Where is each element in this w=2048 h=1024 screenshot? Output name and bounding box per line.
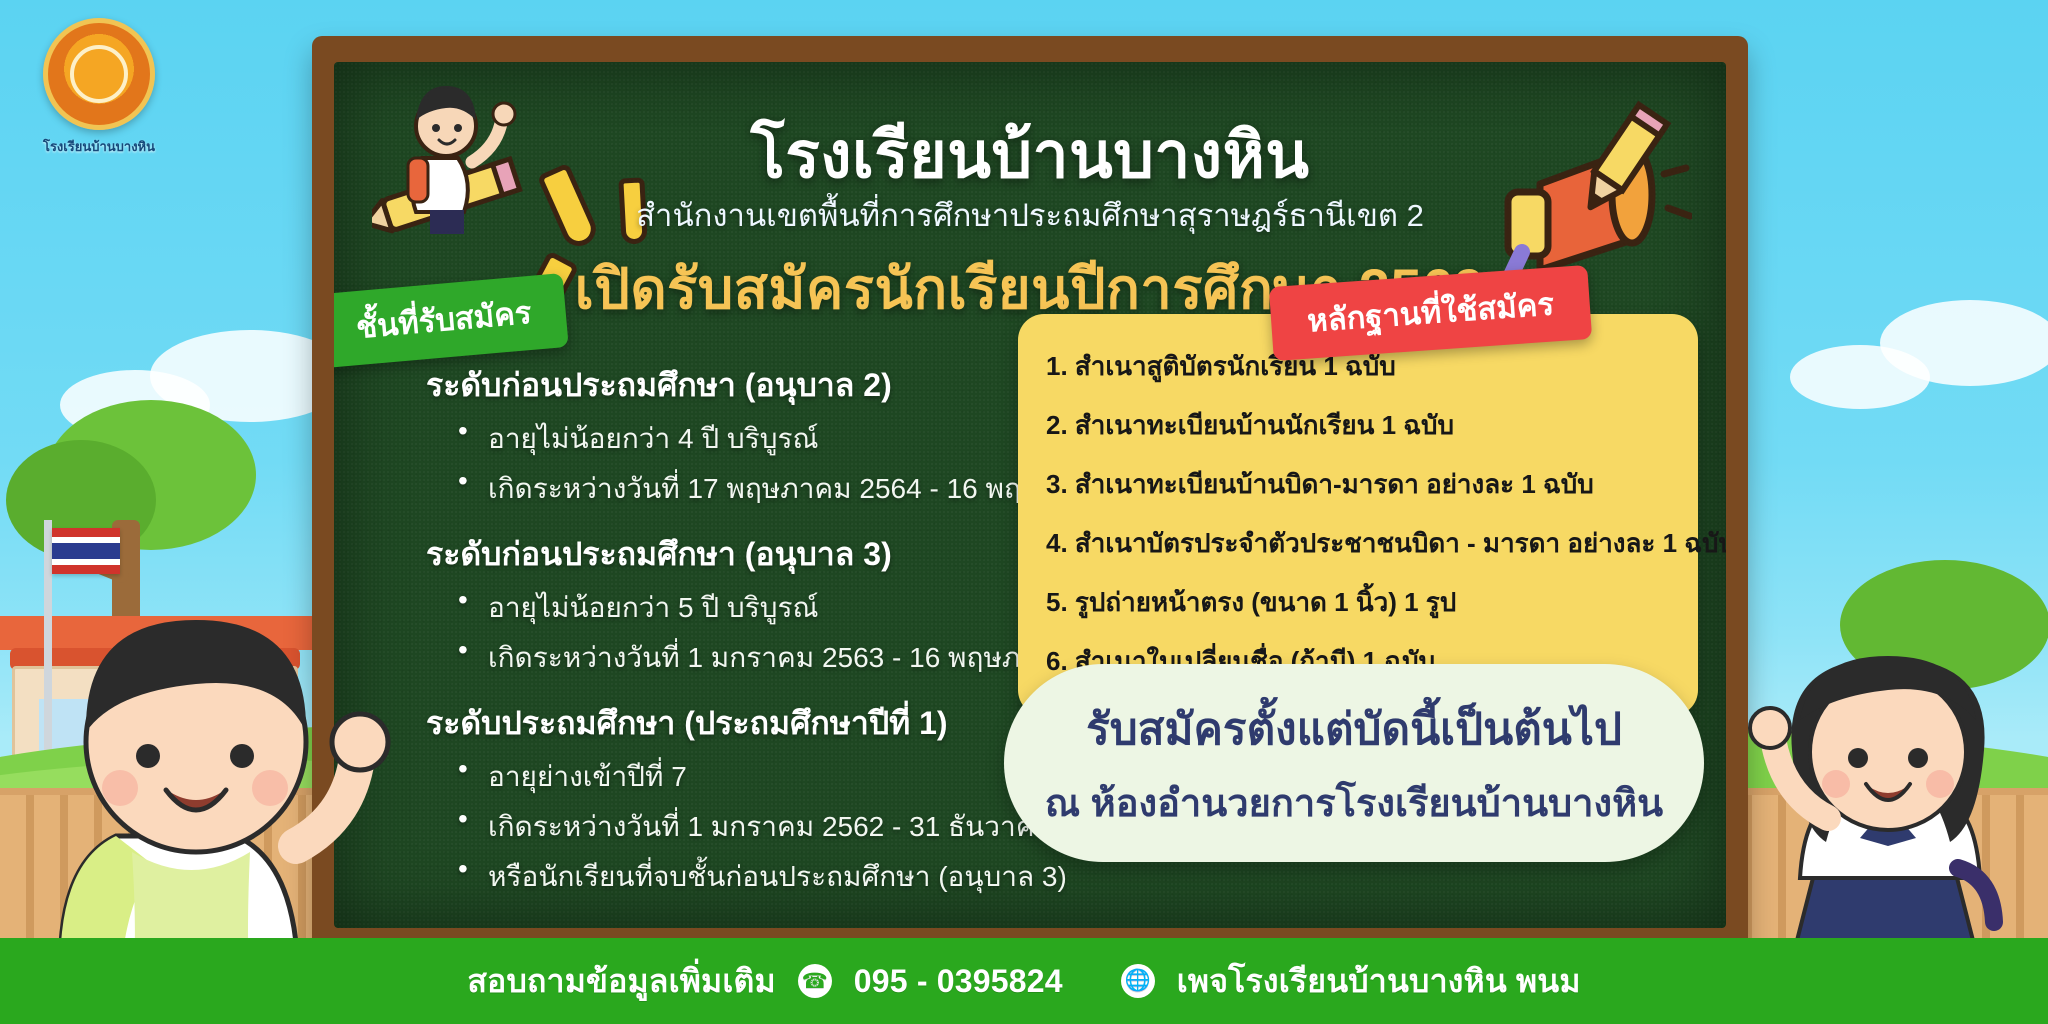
student-on-pencil-illustration (372, 62, 532, 252)
document-item: 4. สำเนาบัตรประจำตัวประชาชนบิดา - มารดา … (1046, 523, 1670, 564)
document-item: 5. รูปถ่ายหน้าตรง (ขนาด 1 นิ้ว) 1 รูป (1046, 582, 1670, 623)
footer-content: สอบถามข้อมูลเพิ่มเติม ☎ 095 - 0395824 🌐 … (0, 938, 2048, 1024)
contact-label: สอบถามข้อมูลเพิ่มเติม (467, 956, 775, 1007)
globe-icon: 🌐 (1121, 964, 1155, 998)
school-logo-caption: โรงเรียนบ้านบางหิน (24, 136, 174, 157)
phone-icon: ☎ (798, 964, 832, 998)
cloud-decoration (1790, 345, 1930, 409)
thai-flag (52, 528, 120, 574)
document-item: 3. สำเนาทะเบียนบ้านบิดา-มารดา อย่างละ 1 … (1046, 464, 1670, 505)
phone-number: 095 - 0395824 (854, 963, 1063, 1000)
document-item: 2. สำเนาทะเบียนบ้านนักเรียน 1 ฉบับ (1046, 405, 1670, 446)
callout-line-1: รับสมัครตั้งแต่บัดนี้เป็นต้นไป (1086, 694, 1622, 764)
poster-canvas: โรงเรียนบ้านบางหิน (0, 0, 2048, 1024)
school-logo: โรงเรียนบ้านบางหิน (24, 18, 174, 157)
callout-line-2: ณ ห้องอำนวยการโรงเรียนบ้านบางหิน (1045, 772, 1663, 833)
pencil-icon (1554, 100, 1684, 230)
school-emblem-icon (43, 18, 155, 130)
chalkboard-surface: โรงเรียนบ้านบางหิน สำนักงานเขตพื้นที่การ… (334, 62, 1726, 928)
facebook-page-name: เพจโรงเรียนบ้านบางหิน พนม (1177, 956, 1581, 1007)
registration-callout: รับสมัครตั้งแต่บัดนี้เป็นต้นไป ณ ห้องอำน… (1004, 664, 1704, 862)
documents-card: 1. สำเนาสูติบัตรนักเรียน 1 ฉบับ 2. สำเนา… (1018, 314, 1698, 716)
level-bullet: หรือนักเรียนที่จบชั้นก่อนประถมศึกษา (อนุ… (484, 855, 1170, 899)
